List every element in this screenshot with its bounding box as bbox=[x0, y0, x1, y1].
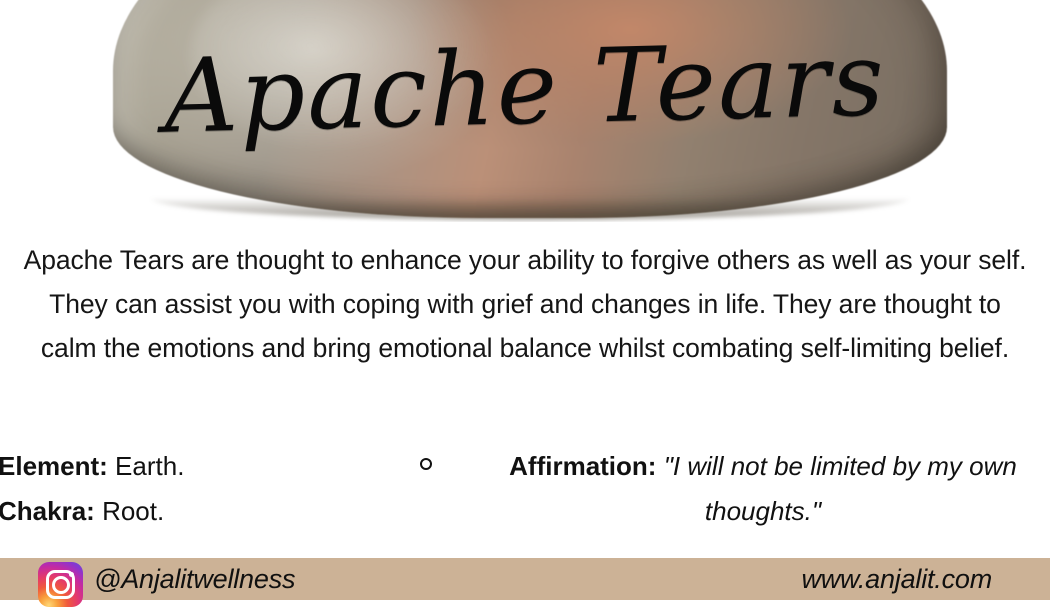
chakra-value: Root. bbox=[102, 496, 164, 526]
instagram-icon-dot bbox=[69, 572, 74, 577]
affirmation-text: Affirmation: "I will not be limited by m… bbox=[478, 444, 1050, 534]
attribute-affirmation-block: Affirmation: "I will not be limited by m… bbox=[420, 444, 1050, 534]
chakra-label: Chakra: bbox=[0, 496, 95, 526]
description-paragraph: Apache Tears are thought to enhance your… bbox=[18, 238, 1032, 370]
affirmation-label: Affirmation: bbox=[509, 451, 656, 481]
affirmation-quote: "I will not be limited by my own thought… bbox=[664, 451, 1017, 526]
hollow-circle-bullet-icon bbox=[420, 458, 432, 470]
bowl-base-shadow bbox=[150, 198, 910, 220]
footer-bar: @Anjalitwellness www.anjalit.com bbox=[0, 558, 1050, 600]
apache-tears-infographic: Apache Tears Apache Tears are thought to… bbox=[0, 0, 1050, 600]
instagram-icon-lens bbox=[52, 576, 70, 594]
hero-image-region: Apache Tears bbox=[0, 0, 1050, 222]
attribute-chakra: Chakra: Root. bbox=[0, 489, 398, 534]
attribute-element: Element: Earth. bbox=[0, 444, 398, 489]
element-value: Earth. bbox=[115, 451, 184, 481]
page-title: Apache Tears bbox=[0, 1, 1050, 177]
instagram-handle[interactable]: @Anjalitwellness bbox=[94, 558, 295, 600]
element-label: Element: bbox=[0, 451, 108, 481]
instagram-icon[interactable] bbox=[38, 562, 83, 607]
attributes-section: Element: Earth. Chakra: Root. Affirmatio… bbox=[0, 444, 1050, 544]
attribute-list-left: Element: Earth. Chakra: Root. bbox=[0, 444, 398, 534]
website-url[interactable]: www.anjalit.com bbox=[801, 558, 992, 600]
